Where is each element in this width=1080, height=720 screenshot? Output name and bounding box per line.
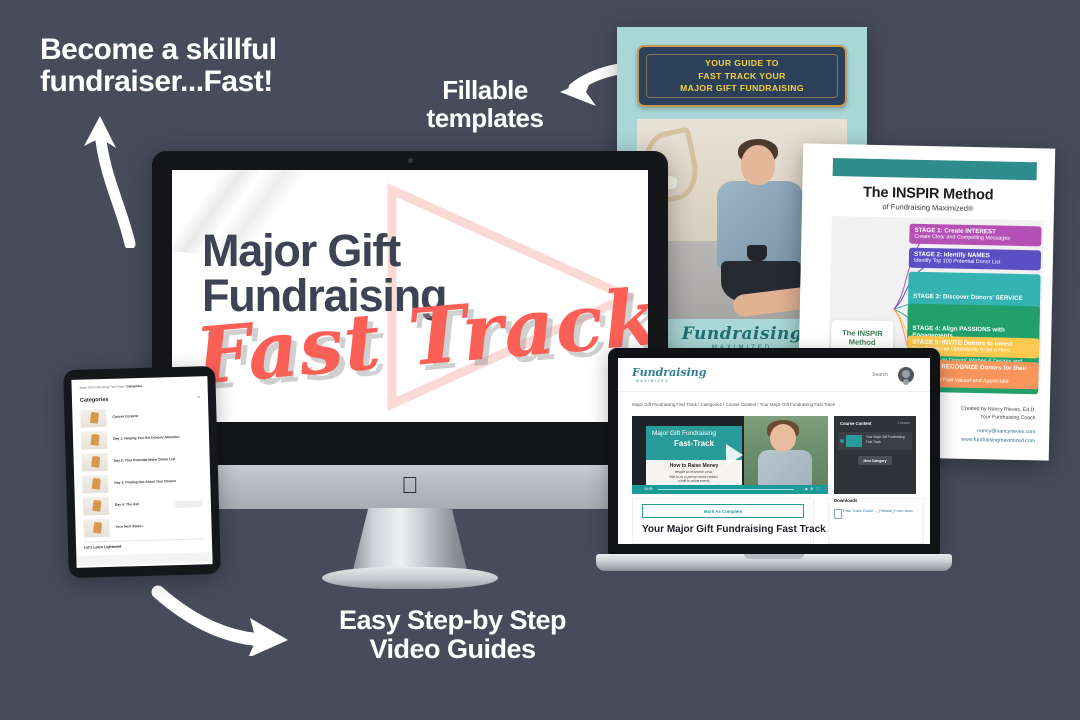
poster-canvas: Become a skillful fundraiser...Fast! Fil…: [0, 0, 1080, 720]
list-item-label: Your Next Steps...: [115, 522, 203, 528]
list-item-thumbnail: [83, 497, 109, 516]
laptop-base-notch: [744, 554, 804, 559]
mark-as-complete-button[interactable]: Mark As Complete: [642, 504, 804, 518]
laptop-lid: Fundraising MAXIMIZED Search Major Gift …: [608, 348, 940, 554]
chip-title: The INSPIR Method: [831, 328, 893, 347]
stage-desc: Create Clear and Compelling Messages: [914, 234, 1036, 244]
tablet-mockup: Major Gift Fundraising Fast Track / Cate…: [63, 366, 221, 578]
list-item-label: Course Content: [112, 412, 200, 418]
breadcrumb-prefix: Major Gift Fundraising Fast Track /: [80, 384, 126, 389]
list-item-thumbnail: [81, 431, 107, 450]
next-category-button[interactable]: Next Category: [858, 456, 892, 465]
imac-stand-neck: [352, 508, 468, 574]
stage-desc: Identify Top 100 Potential Donor List: [914, 258, 1036, 268]
presenter-head: [770, 424, 796, 452]
sort-icon[interactable]: ⇅: [197, 395, 200, 399]
list-item-thumbnail: [83, 519, 109, 538]
list-item-thumbnail: [80, 409, 106, 428]
mug-icon: [747, 245, 767, 261]
list-item-thumbnail: [82, 475, 108, 494]
breadcrumb-current: Categories: [126, 384, 142, 388]
arrow-up-icon: [78, 98, 158, 248]
list-item[interactable]: Course Content: [80, 406, 201, 429]
stage-row: STAGE 1: Create INTEREST Create Clear an…: [909, 224, 1041, 247]
tablet-section-band: [76, 552, 212, 566]
play-icon[interactable]: [726, 444, 743, 466]
stage-row: STAGE 2: Identify NAMES Identify Top 100…: [909, 248, 1041, 271]
lesson-label: Your Major Gift Fundraising Fast Track: [866, 435, 909, 445]
lesson-status-dot-icon: [840, 439, 844, 443]
stage-title: STAGE 3: Discover Donors' SERVICE: [913, 293, 1035, 303]
list-item-thumbnail: [81, 453, 107, 472]
list-item-label: Day 1: Helping You Get Donors' Attention: [113, 434, 201, 440]
callout-become-skillful-fundraiser: Become a skillful fundraiser...Fast!: [40, 34, 360, 99]
workbook-title: YOUR GUIDE TO FAST TRACK YOUR MAJOR GIFT…: [680, 57, 804, 96]
laptop-mockup: Fundraising MAXIMIZED Search Major Gift …: [596, 348, 952, 584]
arrow-right-icon: [146, 578, 298, 656]
site-logo-name[interactable]: Fundraising: [632, 366, 706, 379]
imac-bezel: Major Gift Fundraising Fast Track: [152, 151, 668, 465]
video-title-line1: Major Gift Fundraising: [646, 426, 742, 437]
downloads-section: Downloads Fast Track Guide - _Fillable_F…: [834, 498, 918, 514]
search-input[interactable]: Search: [872, 372, 888, 378]
lesson-thumbnail: [846, 435, 862, 447]
apple-logo-icon: : [400, 473, 420, 497]
laptop-screen: Fundraising MAXIMIZED Search Major Gift …: [618, 358, 930, 544]
workbook-title-band: YOUR GUIDE TO FAST TRACK YOUR MAJOR GIFT…: [637, 45, 847, 107]
tablet-pagination-button[interactable]: [175, 500, 203, 508]
avatar[interactable]: [898, 367, 914, 383]
video-controls[interactable]: 16:39 ◀⚙⛶: [632, 485, 828, 494]
site-logo-subtitle: MAXIMIZED: [636, 379, 669, 383]
video-player[interactable]: Major Gift Fundraising Fast-Track How to…: [632, 416, 828, 494]
course-site-topbar: Fundraising MAXIMIZED Search: [618, 358, 930, 392]
list-item[interactable]: Your Next Steps...: [83, 516, 204, 539]
video-timestamp: 16:39: [644, 487, 653, 491]
video-control-icons[interactable]: ◀⚙⛶: [804, 487, 822, 491]
download-file-link[interactable]: Fast Track Guide - _Fillable_Form.docx: [834, 508, 918, 514]
list-item[interactable]: Day 2: Your Potential Major Donor List: [81, 450, 202, 473]
tablet-section-heading: Let's Learn Lightened: [84, 545, 121, 550]
imac-mockup: Major Gift Fundraising Fast Track : [152, 151, 668, 555]
sidebar-lesson-count: 1 Lesson: [897, 421, 910, 425]
person-head: [741, 145, 775, 185]
sidebar-heading: Course Content: [840, 421, 871, 426]
downloads-heading: Downloads: [834, 498, 918, 503]
video-presenter-photo: [744, 416, 828, 494]
list-item[interactable]: Day 1: Helping You Get Donors' Attention: [81, 428, 202, 451]
tablet-breadcrumb[interactable]: Major Gift Fundraising Fast Track / Cate…: [80, 384, 142, 390]
imac-screen: Major Gift Fundraising Fast Track: [172, 170, 648, 422]
breadcrumb[interactable]: Major Gift Fundraising Fast Track / Cate…: [632, 402, 835, 407]
list-item-label: Day 3: Finding Out About Your Donors: [114, 478, 202, 484]
list-item[interactable]: Day 3: Finding Out About Your Donors: [82, 472, 203, 495]
video-progress-bar[interactable]: [658, 489, 794, 490]
sidebar-lesson-item[interactable]: Your Major Gift Fundraising Fast Track: [838, 432, 912, 450]
handout-header-band: [833, 158, 1037, 180]
webcam-icon: [408, 158, 413, 163]
course-content-sidebar: Course Content 1 Lesson Your Major Gift …: [834, 416, 916, 494]
imac-stand-foot: [322, 567, 498, 589]
lesson-title: Your Major Gift Fundraising Fast Track: [642, 524, 826, 535]
list-item-label: Day 2: Your Potential Major Donor List: [114, 456, 202, 462]
callout-easy-step-by-step-video-guides: Easy Step-by Step Video Guides: [310, 606, 595, 664]
tablet-page-title: Categories: [80, 397, 109, 404]
tablet-screen: Major Gift Fundraising Fast Track / Cate…: [71, 376, 212, 568]
